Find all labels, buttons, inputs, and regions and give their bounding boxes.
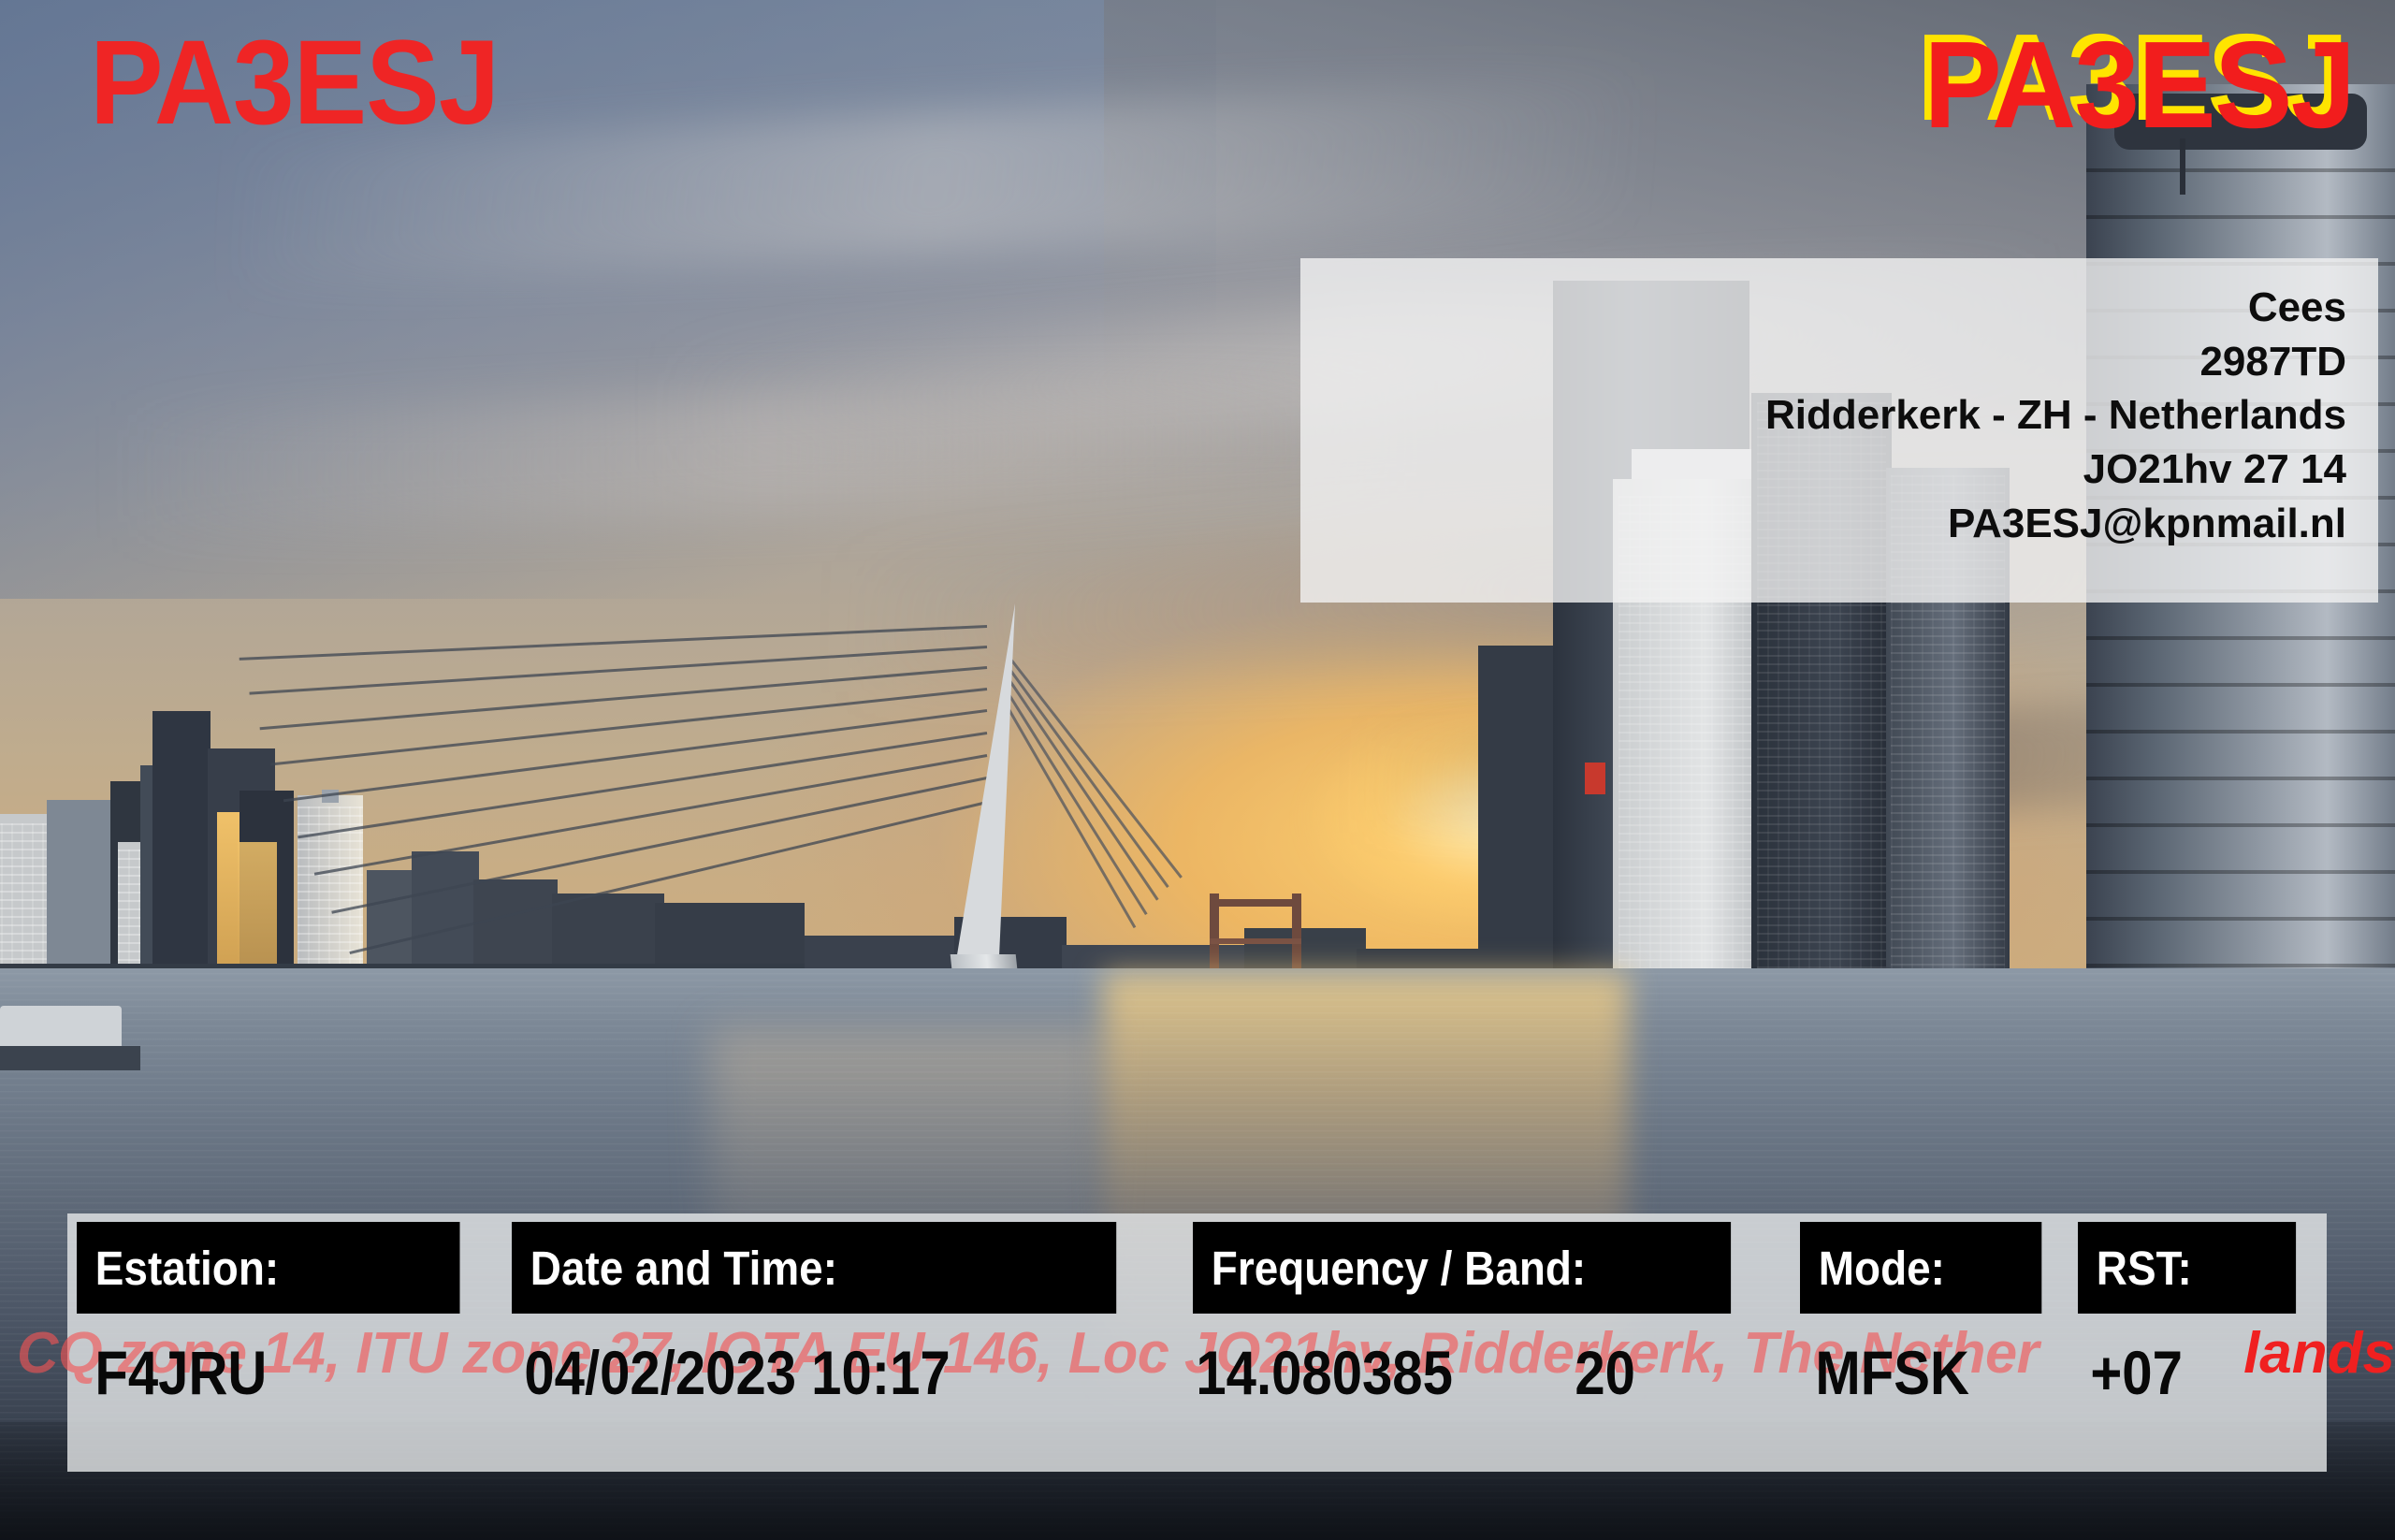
- red-facade-accent: [1585, 763, 1605, 794]
- header-date-time: Date and Time:: [512, 1222, 1116, 1314]
- address-name: Cees: [1300, 281, 2346, 335]
- header-frequency-band: Frequency / Band:: [1193, 1222, 1731, 1314]
- header-rst: RST:: [2078, 1222, 2296, 1314]
- value-estation: F4JRU: [77, 1321, 446, 1424]
- value-date-time: 04/02/2023 10:17: [506, 1321, 1090, 1424]
- address-city: Ridderkerk - ZH - Netherlands: [1300, 388, 2346, 443]
- callsign-top-right: PA3ESJ: [1923, 21, 2354, 151]
- address-locator: JO21hv 27 14: [1300, 443, 2346, 497]
- value-rst: +07: [2072, 1321, 2283, 1424]
- address-postcode: 2987TD: [1300, 335, 2346, 389]
- qso-table-value-row: F4JRU 04/02/2023 10:17 14.080385 20 MFSK…: [77, 1321, 2320, 1424]
- qsl-card: PA3ESJ PA3ESJ Cees 2987TD Ridderkerk - Z…: [0, 0, 2395, 1540]
- header-mode: Mode:: [1800, 1222, 2041, 1314]
- value-mode: MFSK: [1797, 1321, 2030, 1424]
- address-email: PA3ESJ@kpnmail.nl: [1300, 497, 2346, 551]
- callsign-top-left: PA3ESJ: [90, 21, 499, 146]
- header-estation: Estation:: [77, 1222, 459, 1314]
- qso-table-header-row: Estation: Date and Time: Frequency / Ban…: [77, 1222, 2320, 1314]
- address-panel: Cees 2987TD Ridderkerk - ZH - Netherland…: [1300, 258, 2378, 603]
- bridge-cables-right: [0, 0, 1497, 1076]
- value-frequency: 14.080385: [1178, 1321, 1503, 1424]
- moored-boat-hull: [0, 1046, 140, 1070]
- value-band: 20: [1557, 1321, 1760, 1424]
